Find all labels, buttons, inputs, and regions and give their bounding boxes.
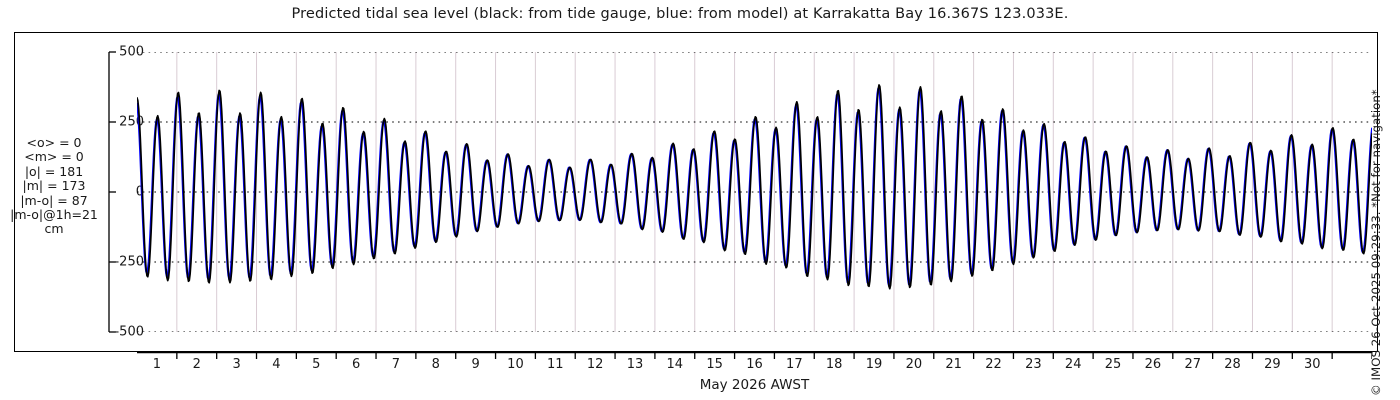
stat-mean-observed: <o> = 0 [2, 136, 106, 150]
x-tick-label: 2 [193, 357, 201, 372]
x-tick-label: 13 [627, 357, 644, 372]
stat-units: cm [2, 222, 106, 236]
x-tick-label: 15 [706, 357, 723, 372]
x-tick-label: 3 [232, 357, 240, 372]
x-tick-label: 5 [312, 357, 320, 372]
x-tick-label: 21 [945, 357, 962, 372]
x-tick-label: 1 [153, 357, 161, 372]
x-tick-label: 6 [352, 357, 360, 372]
x-tick-label: 22 [985, 357, 1002, 372]
plot-area [137, 52, 1372, 332]
x-tick-labels: 1234567891011121314151617181920212223242… [137, 357, 1372, 377]
x-tick-label: 4 [272, 357, 280, 372]
x-tick-label: 24 [1065, 357, 1082, 372]
x-tick-label: 14 [667, 357, 684, 372]
x-tick-label: 19 [866, 357, 883, 372]
stat-abs-model: |m| = 173 [2, 179, 106, 193]
copyright-notice: © IMOS 26-Oct-2025 09:29:33. *Not for na… [1369, 89, 1383, 396]
x-tick-label: 27 [1184, 357, 1201, 372]
x-tick-label: 23 [1025, 357, 1042, 372]
horizontal-gridlines [137, 52, 1372, 332]
x-tick-label: 7 [392, 357, 400, 372]
x-tick-label: 11 [547, 357, 564, 372]
x-tick-label: 30 [1304, 357, 1321, 372]
tidal-series-plot [137, 52, 1372, 332]
x-tick-label: 18 [826, 357, 843, 372]
chart-title: Predicted tidal sea level (black: from t… [0, 6, 1360, 22]
x-tick-label: 17 [786, 357, 803, 372]
x-tick-label: 25 [1105, 357, 1122, 372]
copyright-host: © IMOS 26-Oct-2025 09:29:33. *Not for na… [1380, 0, 1400, 400]
stat-abs-diff: |m-o| = 87 [2, 194, 106, 208]
series-line-observed [137, 85, 1372, 289]
chart-page: Predicted tidal sea level (black: from t… [0, 0, 1400, 400]
stat-abs-diff-1h: |m-o|@1h=21 [2, 208, 106, 222]
stat-mean-model: <m> = 0 [2, 150, 106, 164]
x-tick-label: 8 [432, 357, 440, 372]
statistics-annotation: <o> = 0 <m> = 0 |o| = 181 |m| = 173 |m-o… [2, 136, 106, 237]
x-tick-label: 9 [471, 357, 479, 372]
x-tick-label: 12 [587, 357, 604, 372]
x-tick-label: 10 [507, 357, 524, 372]
x-tick-label: 29 [1264, 357, 1281, 372]
x-axis-title: May 2026 AWST [137, 377, 1372, 393]
stat-abs-observed: |o| = 181 [2, 165, 106, 179]
x-tick-label: 16 [746, 357, 763, 372]
x-tick-label: 26 [1145, 357, 1162, 372]
x-tick-label: 28 [1224, 357, 1241, 372]
x-tick-label: 20 [906, 357, 923, 372]
